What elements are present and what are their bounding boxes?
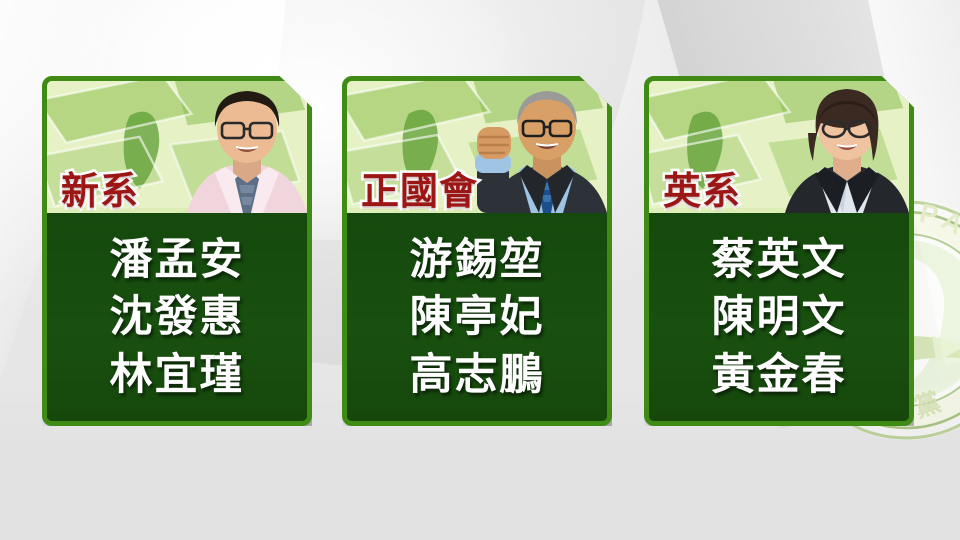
list-item: 陳亭妃	[410, 289, 545, 346]
list-item: 黃金春	[712, 347, 847, 404]
card-photo-area: 英系	[649, 81, 909, 213]
faction-label: 正國會	[361, 173, 478, 211]
list-item: 潘孟安	[110, 232, 245, 289]
faction-card[interactable]: 正國會 游錫堃 陳亭妃 高志鵬	[342, 76, 612, 426]
list-item: 高志鵬	[410, 347, 545, 404]
card-name-list: 潘孟安 沈發惠 林宜瑾	[47, 213, 307, 421]
card-name-list: 游錫堃 陳亭妃 高志鵬	[347, 213, 607, 421]
list-item: 陳明文	[712, 289, 847, 346]
list-item: 沈發惠	[110, 289, 245, 346]
list-item: 游錫堃	[410, 232, 545, 289]
faction-label: 英系	[663, 173, 741, 211]
avatar	[181, 81, 307, 213]
list-item: 蔡英文	[712, 232, 847, 289]
avatar	[465, 81, 607, 213]
graphic-stage: SIVE PA 主進步黨	[0, 0, 960, 540]
card-photo-area: 正國會	[347, 81, 607, 213]
faction-label: 新系	[61, 173, 139, 211]
avatar	[775, 81, 909, 213]
faction-card[interactable]: 英系 蔡英文 陳明文 黃金春	[644, 76, 914, 426]
faction-card[interactable]: 新系 潘孟安 沈發惠 林宜瑾	[42, 76, 312, 426]
list-item: 林宜瑾	[110, 347, 245, 404]
card-name-list: 蔡英文 陳明文 黃金春	[649, 213, 909, 421]
card-photo-area: 新系	[47, 81, 307, 213]
